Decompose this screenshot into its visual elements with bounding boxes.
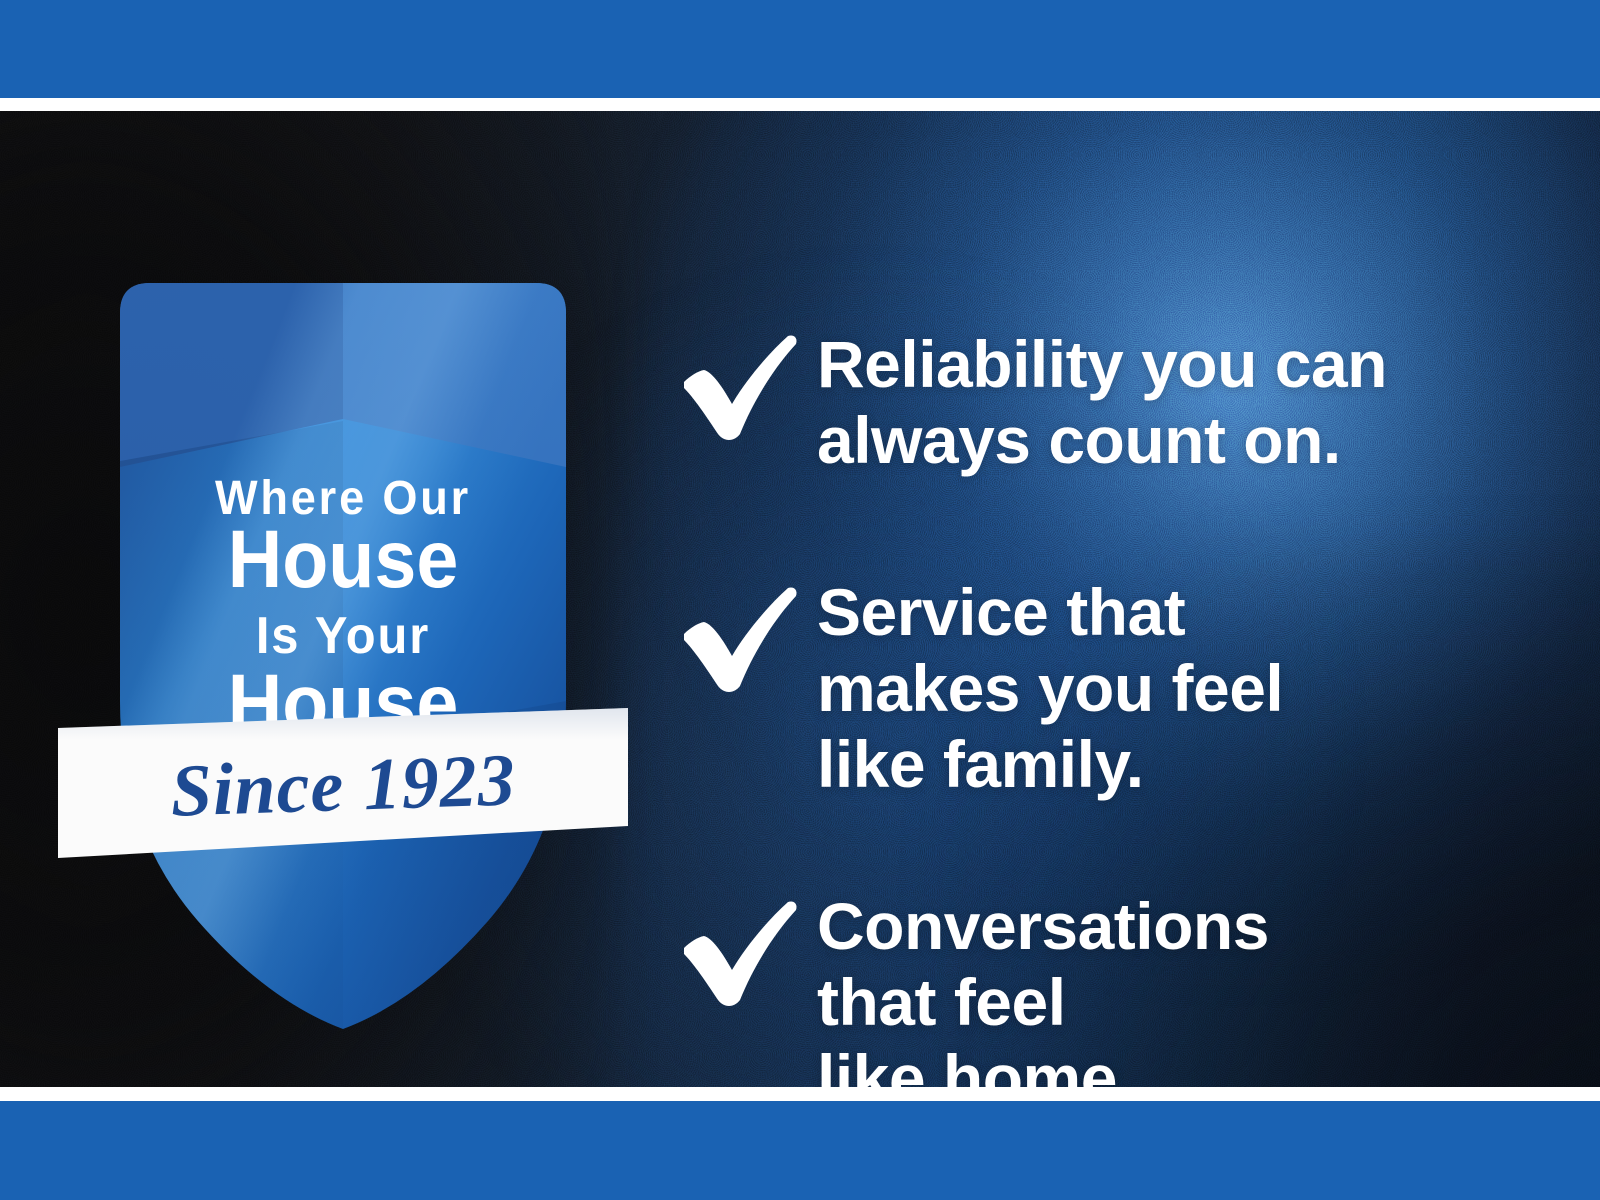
bottom-blue-bar [0,1101,1600,1200]
list-item: Service that makes you feel like family. [660,570,1540,802]
top-blue-bar [0,0,1600,98]
badge-line-2: House [108,517,577,603]
check-icon [660,884,805,1014]
list-item-text: Reliability you can always count on. [817,318,1387,478]
list-item-text: Service that makes you feel like family. [817,570,1283,802]
list-item-text: Conversations that feel like home. [817,884,1269,1087]
badge-line-3: Is Your [103,606,582,666]
bottom-white-divider [0,1087,1600,1101]
list-item: Conversations that feel like home. [660,884,1540,1087]
shield-badge: Where Our House Is Your House Since 1923 [70,271,615,1061]
top-white-divider [0,98,1600,111]
list-item: Reliability you can always count on. [660,318,1540,478]
badge-ribbon-text: Since 1923 [56,697,631,868]
promo-graphic: Where Our House Is Your House Since 1923… [0,0,1600,1200]
check-icon [660,318,805,448]
benefits-list: Reliability you can always count on. Ser… [660,222,1560,1087]
check-icon [660,570,805,700]
content-stage: Where Our House Is Your House Since 1923… [0,111,1600,1087]
